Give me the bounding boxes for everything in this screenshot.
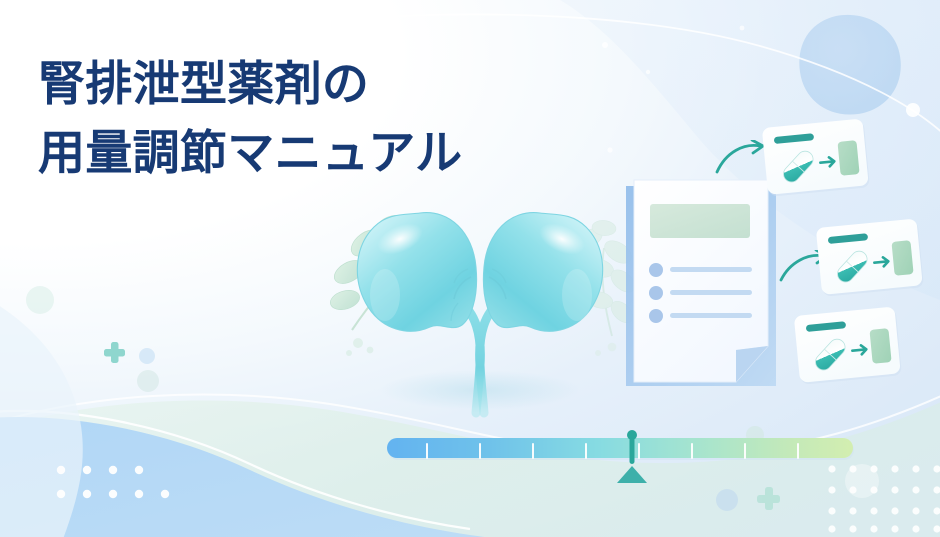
banner-stage: 腎排泄型薬剤の 用量調節マニュアル xyxy=(0,0,940,537)
slider-pointer-triangle[interactable] xyxy=(617,466,647,483)
right-kidney xyxy=(483,213,602,332)
title-line-2: 用量調節マニュアル xyxy=(38,124,462,185)
doc-bullet-1 xyxy=(649,263,663,277)
doc-bullet-3 xyxy=(649,309,663,323)
pill-card-2[interactable] xyxy=(815,217,928,301)
card-result-block xyxy=(891,240,913,276)
card-result-block xyxy=(869,328,891,364)
document-header-block xyxy=(650,204,750,238)
title-line-1: 腎排泄型薬剤の xyxy=(38,55,462,116)
card-result-block xyxy=(837,140,859,176)
arrow-curve xyxy=(717,145,760,172)
doc-line-1 xyxy=(670,267,752,272)
pill-card-3[interactable] xyxy=(793,305,906,389)
page-title: 腎排泄型薬剤の 用量調節マニュアル xyxy=(38,55,462,185)
kidney-illustration xyxy=(330,195,630,430)
left-kidney xyxy=(357,213,476,332)
dose-adjustment-slider[interactable] xyxy=(386,430,856,485)
slider-track[interactable] xyxy=(387,438,853,458)
dose-adjustment-document xyxy=(618,178,788,408)
doc-line-3 xyxy=(670,313,752,318)
doc-bullet-2 xyxy=(649,286,663,300)
pill-card-1[interactable] xyxy=(761,117,874,201)
doc-line-2 xyxy=(670,290,752,295)
